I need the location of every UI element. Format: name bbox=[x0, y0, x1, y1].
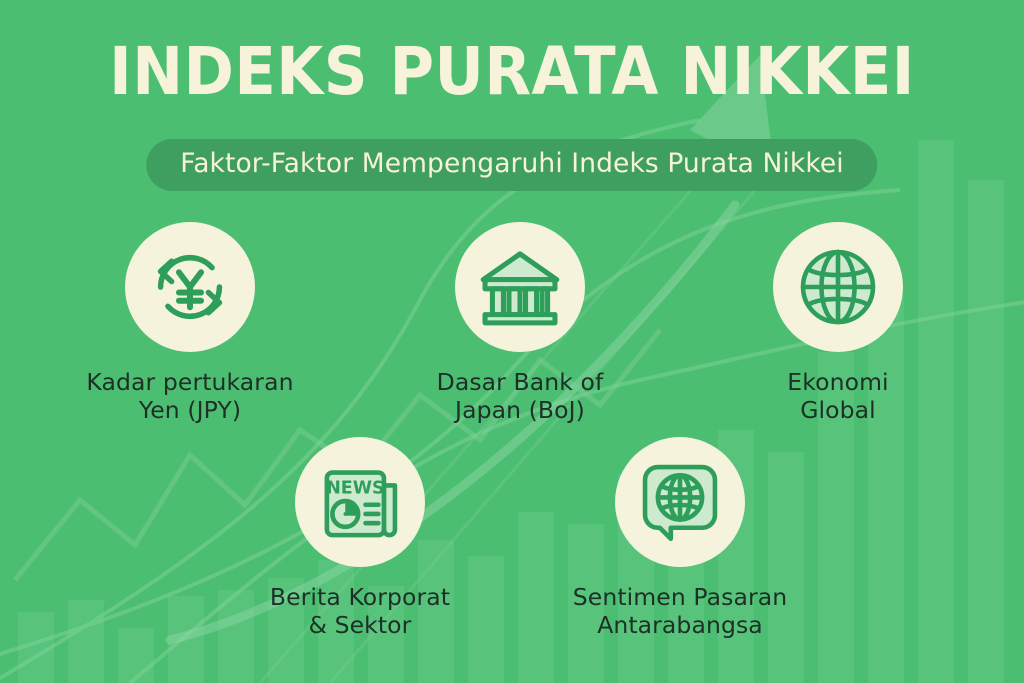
page-title: INDEKS PURATA NIKKEI bbox=[41, 34, 983, 110]
factor-icon-circle bbox=[125, 222, 255, 352]
factor-label: Sentimen Pasaran Antarabangsa bbox=[565, 583, 795, 639]
factor-icon-circle bbox=[773, 222, 903, 352]
factor-icon-circle bbox=[455, 222, 585, 352]
factor-label: Ekonomi Global bbox=[723, 368, 953, 424]
subtitle-pill: Faktor-Faktor Mempengaruhi Indeks Purata… bbox=[146, 139, 877, 191]
yen-exchange-icon bbox=[144, 241, 236, 333]
factor-icon-circle: NEWS bbox=[295, 437, 425, 567]
globe-speech-bubble-icon bbox=[634, 456, 726, 548]
factor-label: Berita Korporat & Sektor bbox=[245, 583, 475, 639]
factor-item-global-economy: Ekonomi Global bbox=[723, 222, 953, 424]
factor-item-corporate-news: NEWS Berita Korporat & Sektor bbox=[245, 437, 475, 639]
newspaper-news-icon: NEWS bbox=[314, 456, 406, 548]
factor-item-boj-policy: Dasar Bank of Japan (BoJ) bbox=[405, 222, 635, 424]
news-banner-text: NEWS bbox=[326, 479, 384, 499]
factor-item-market-sentiment: Sentimen Pasaran Antarabangsa bbox=[565, 437, 795, 639]
factor-icon-circle bbox=[615, 437, 745, 567]
factor-label: Kadar pertukaran Yen (JPY) bbox=[75, 368, 305, 424]
factor-item-exchange-rate: Kadar pertukaran Yen (JPY) bbox=[75, 222, 305, 424]
subtitle-text: Faktor-Faktor Mempengaruhi Indeks Purata… bbox=[180, 148, 843, 180]
title-block: INDEKS PURATA NIKKEI bbox=[0, 34, 1024, 110]
globe-icon bbox=[792, 241, 884, 333]
nikkei-infographic: INDEKS PURATA NIKKEI Faktor-Faktor Mempe… bbox=[0, 0, 1024, 683]
bank-building-icon bbox=[474, 241, 566, 333]
factor-label: Dasar Bank of Japan (BoJ) bbox=[405, 368, 635, 424]
